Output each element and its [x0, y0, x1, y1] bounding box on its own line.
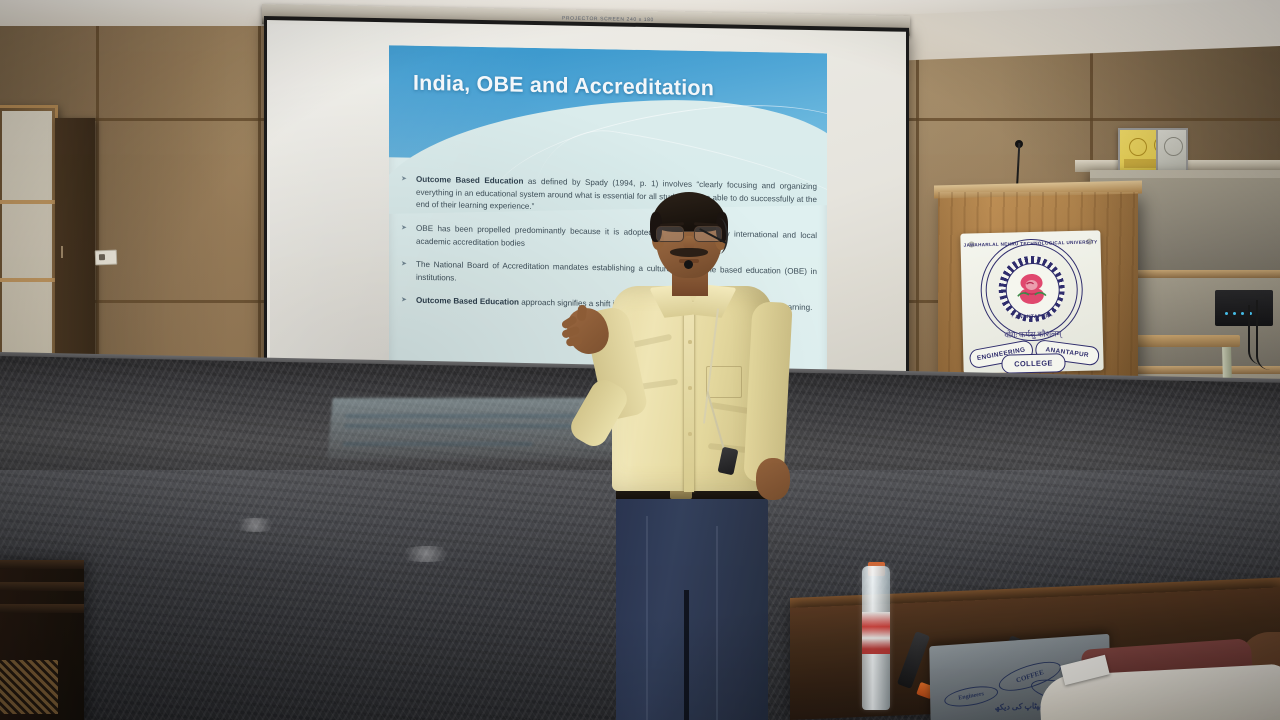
presenter-right-arm [743, 301, 792, 483]
shirt-placket [684, 302, 694, 492]
cabinet-shelf [0, 278, 55, 282]
presenter [560, 190, 800, 720]
bullet-arrow-icon: ➤ [401, 260, 407, 271]
bullet-arrow-icon: ➤ [401, 296, 407, 307]
university-emblem: JAWAHARLAL NEHRU TECHNOLOGICAL UNIVERSIT… [960, 230, 1103, 373]
presenter-right-hand [756, 458, 790, 500]
cabinet-shelf [0, 200, 55, 204]
emblem-motto: योगः कर्मसु कौशलम् [963, 327, 1103, 341]
headset-microphone-icon [684, 260, 693, 269]
chair-cane-weave [0, 660, 58, 714]
emblem-ribbon-center: COLLEGE [1001, 353, 1065, 374]
wall-socket[interactable] [95, 250, 118, 266]
bullet-lead: Outcome Based Education [416, 175, 523, 186]
rose-icon [1011, 270, 1052, 309]
bottle-label [862, 612, 890, 654]
trouser-leg-split [684, 590, 689, 720]
foreground-chair [0, 560, 84, 720]
certificate-frame [1156, 128, 1188, 176]
cable [1248, 305, 1266, 365]
bullet-arrow-icon: ➤ [401, 223, 407, 234]
audience-member [1040, 636, 1280, 720]
cabinet-interior [2, 111, 52, 389]
presenter-trousers [616, 496, 768, 720]
presenter-mustache [670, 248, 708, 257]
bullet-arrow-icon: ➤ [401, 175, 407, 186]
bullet-lead: Outcome Based Education [416, 296, 519, 307]
lecture-hall-photo: PROJECTOR SCREEN 240 x 180 India, OBE an… [0, 0, 1280, 720]
